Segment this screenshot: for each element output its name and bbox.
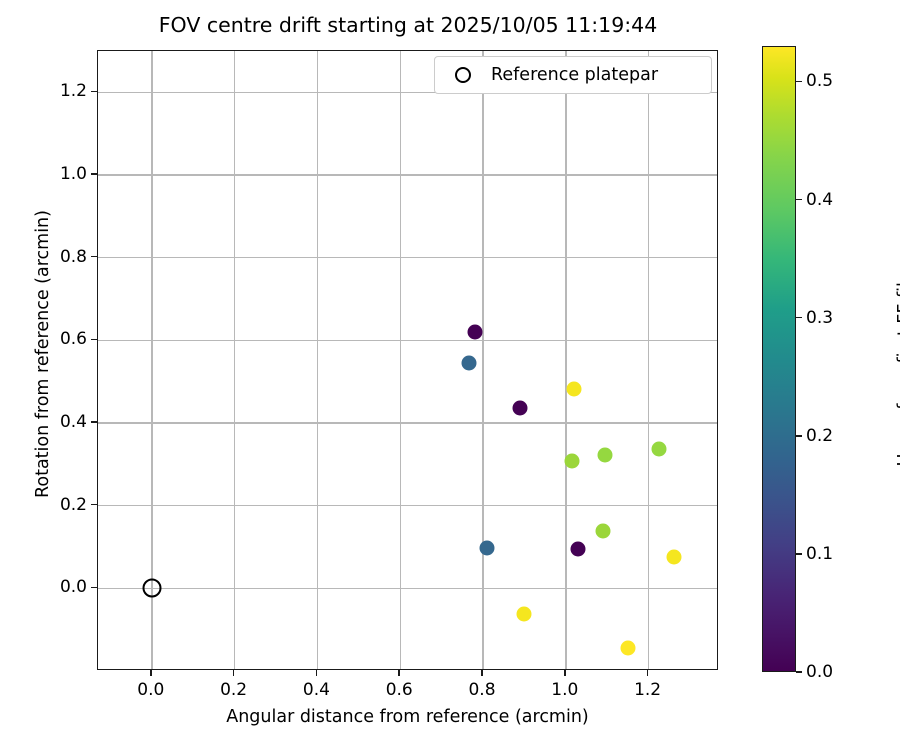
gridline-horizontal	[98, 422, 717, 423]
x-tick-label: 1.0	[551, 680, 578, 700]
legend[interactable]: Reference platepar	[434, 56, 712, 94]
y-tick	[91, 173, 97, 175]
data-point	[513, 400, 528, 415]
colorbar-tick-label: 0.5	[806, 71, 833, 91]
data-point	[461, 356, 476, 371]
data-point	[620, 641, 635, 656]
y-tick-label: 1.2	[45, 81, 87, 101]
gridline-vertical	[648, 51, 649, 669]
y-axis-label: Rotation from reference (arcmin)	[33, 184, 53, 524]
colorbar-label: Hours from first FF file	[895, 209, 900, 529]
x-axis-label: Angular distance from reference (arcmin)	[97, 707, 718, 727]
x-tick	[233, 670, 235, 676]
data-point	[517, 606, 532, 621]
colorbar-tick	[796, 553, 802, 555]
data-point	[467, 325, 482, 340]
y-tick	[91, 256, 97, 258]
x-tick-label: 0.8	[468, 680, 495, 700]
y-tick	[91, 504, 97, 506]
gridline-vertical	[234, 51, 235, 669]
gridline-vertical	[400, 51, 401, 669]
reference-platepar-marker	[142, 579, 161, 598]
figure-canvas: FOV centre drift starting at 2025/10/05 …	[0, 0, 900, 750]
colorbar-tick-label: 0.0	[806, 662, 833, 682]
gridline-horizontal	[98, 588, 717, 589]
colorbar-tick	[796, 671, 802, 673]
data-point	[565, 454, 580, 469]
y-tick-label: 1.0	[45, 164, 87, 184]
gridlines	[98, 51, 717, 669]
page-title: FOV centre drift starting at 2025/10/05 …	[97, 14, 719, 37]
plot-area[interactable]	[97, 50, 718, 670]
gridline-vertical	[482, 51, 483, 669]
colorbar-gradient	[762, 46, 796, 672]
x-tick	[647, 670, 649, 676]
x-tick-label: 0.6	[386, 680, 413, 700]
x-tick-label: 0.2	[220, 680, 247, 700]
gridline-horizontal	[98, 505, 717, 506]
scatter-points	[98, 51, 717, 669]
y-tick-label: 0.0	[45, 577, 87, 597]
x-tick	[316, 670, 318, 676]
data-point	[651, 442, 666, 457]
x-tick	[398, 670, 400, 676]
legend-item-label: Reference platepar	[491, 65, 658, 85]
data-point	[567, 382, 582, 397]
data-point	[596, 523, 611, 538]
colorbar-tick-label: 0.4	[806, 190, 833, 210]
gridline-horizontal	[98, 257, 717, 258]
gridline-vertical	[317, 51, 318, 669]
data-point	[571, 542, 586, 557]
colorbar-tick-label: 0.2	[806, 426, 833, 446]
data-point	[667, 549, 682, 564]
y-tick	[91, 587, 97, 589]
x-tick	[564, 670, 566, 676]
x-tick-label: 0.0	[137, 680, 164, 700]
data-point	[480, 541, 495, 556]
colorbar[interactable]	[762, 46, 796, 672]
x-tick	[150, 670, 152, 676]
gridline-vertical	[151, 51, 152, 669]
colorbar-tick	[796, 317, 802, 319]
gridline-vertical	[565, 51, 566, 669]
x-tick	[481, 670, 483, 676]
gridline-horizontal	[98, 340, 717, 341]
colorbar-tick	[796, 199, 802, 201]
y-tick	[91, 339, 97, 341]
data-point	[598, 448, 613, 463]
colorbar-tick	[796, 81, 802, 83]
gridline-horizontal	[98, 174, 717, 175]
y-tick	[91, 421, 97, 423]
colorbar-tick	[796, 435, 802, 437]
x-tick-label: 1.2	[634, 680, 661, 700]
colorbar-tick-label: 0.3	[806, 308, 833, 328]
y-tick	[91, 91, 97, 93]
x-tick-label: 0.4	[303, 680, 330, 700]
colorbar-tick-label: 0.1	[806, 544, 833, 564]
legend-marker-box	[435, 67, 491, 83]
open-circle-icon	[455, 67, 471, 83]
